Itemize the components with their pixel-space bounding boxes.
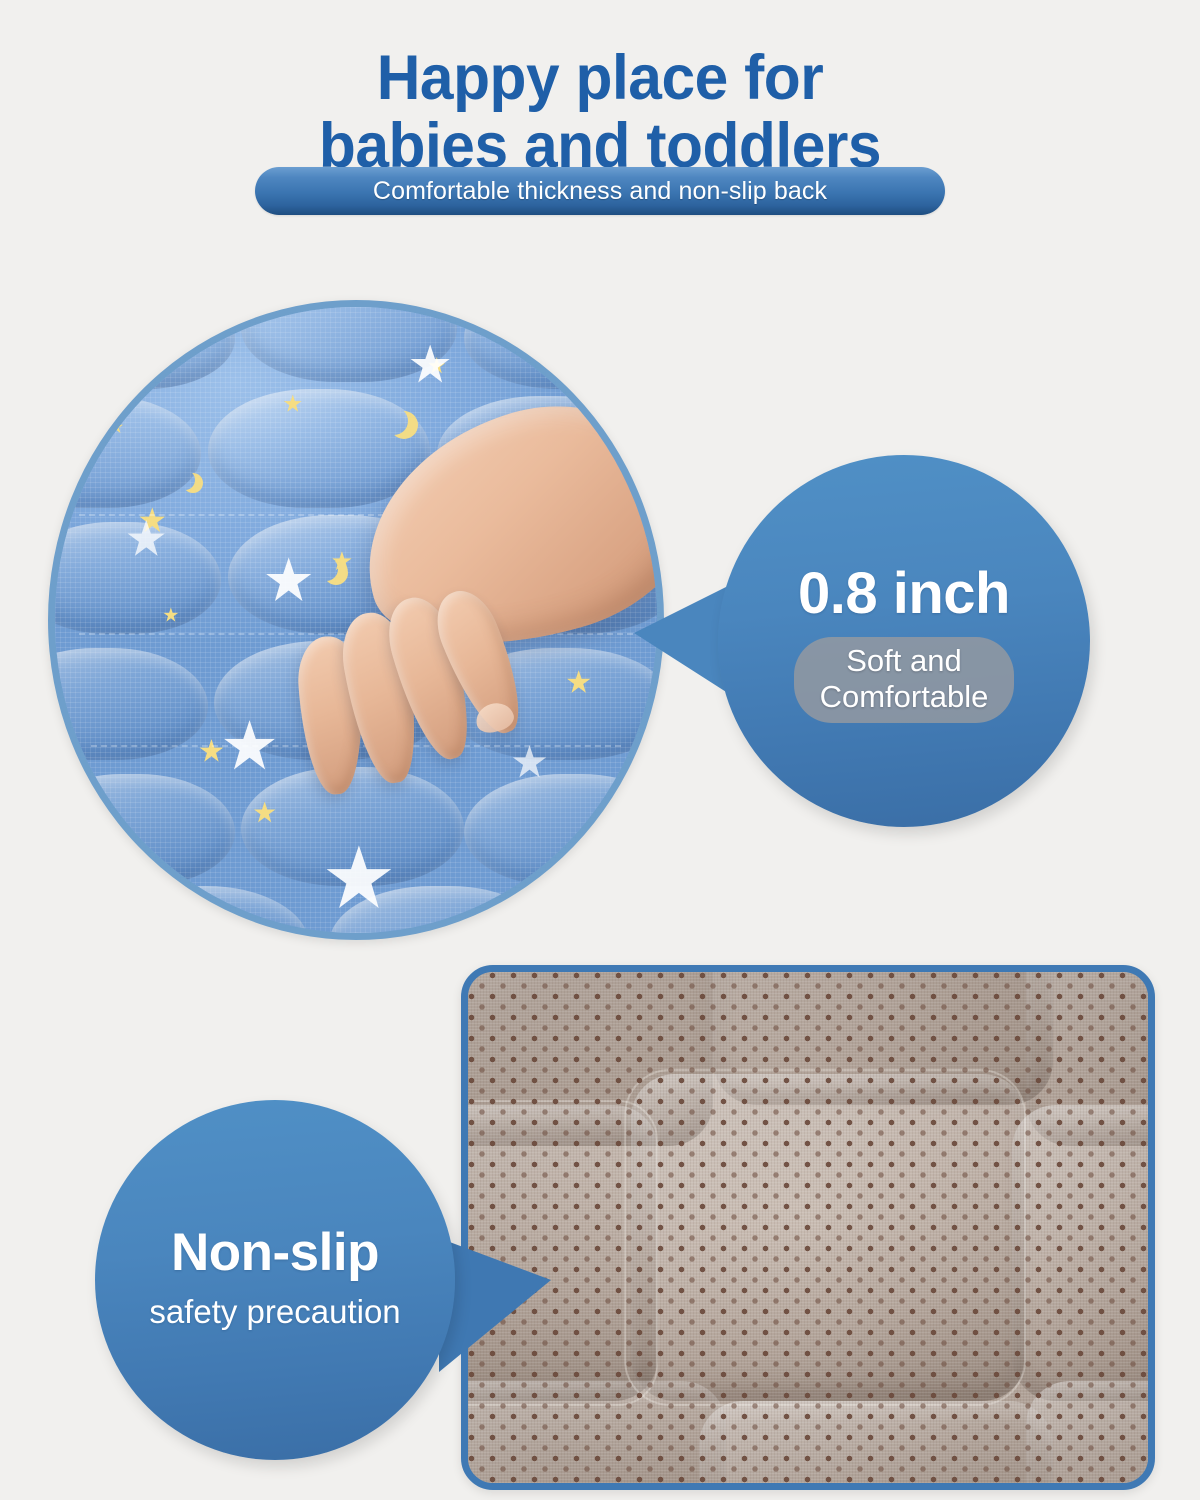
- headline-line-1: Happy place for: [24, 44, 1176, 112]
- subtitle-banner: Comfortable thickness and non-slip back: [255, 167, 945, 215]
- soft-pill-line-1: Soft and: [820, 643, 989, 679]
- bubble-tail-right: [439, 1238, 551, 1372]
- nonslip-grip-dots-secondary: [468, 972, 1148, 1483]
- product-feature-page: Happy place for babies and toddlers Comf…: [0, 0, 1200, 1500]
- nonslip-title: Non-slip: [171, 1226, 379, 1279]
- nonslip-backing-photo: [461, 965, 1155, 1490]
- page-header: Happy place for babies and toddlers: [0, 44, 1200, 180]
- soft-pill-line-2: Comfortable: [820, 679, 989, 715]
- thickness-value: 0.8 inch: [798, 565, 1010, 623]
- mattress-topper-photo: [48, 300, 664, 940]
- thickness-callout-bubble: 0.8 inch Soft and Comfortable: [718, 455, 1090, 827]
- nonslip-callout-bubble: Non-slip safety precaution: [95, 1100, 455, 1460]
- soft-comfortable-pill: Soft and Comfortable: [794, 637, 1015, 724]
- subtitle-text: Comfortable thickness and non-slip back: [373, 177, 827, 206]
- nonslip-subtitle: safety precaution: [149, 1295, 400, 1328]
- page-title: Happy place for babies and toddlers: [24, 44, 1176, 180]
